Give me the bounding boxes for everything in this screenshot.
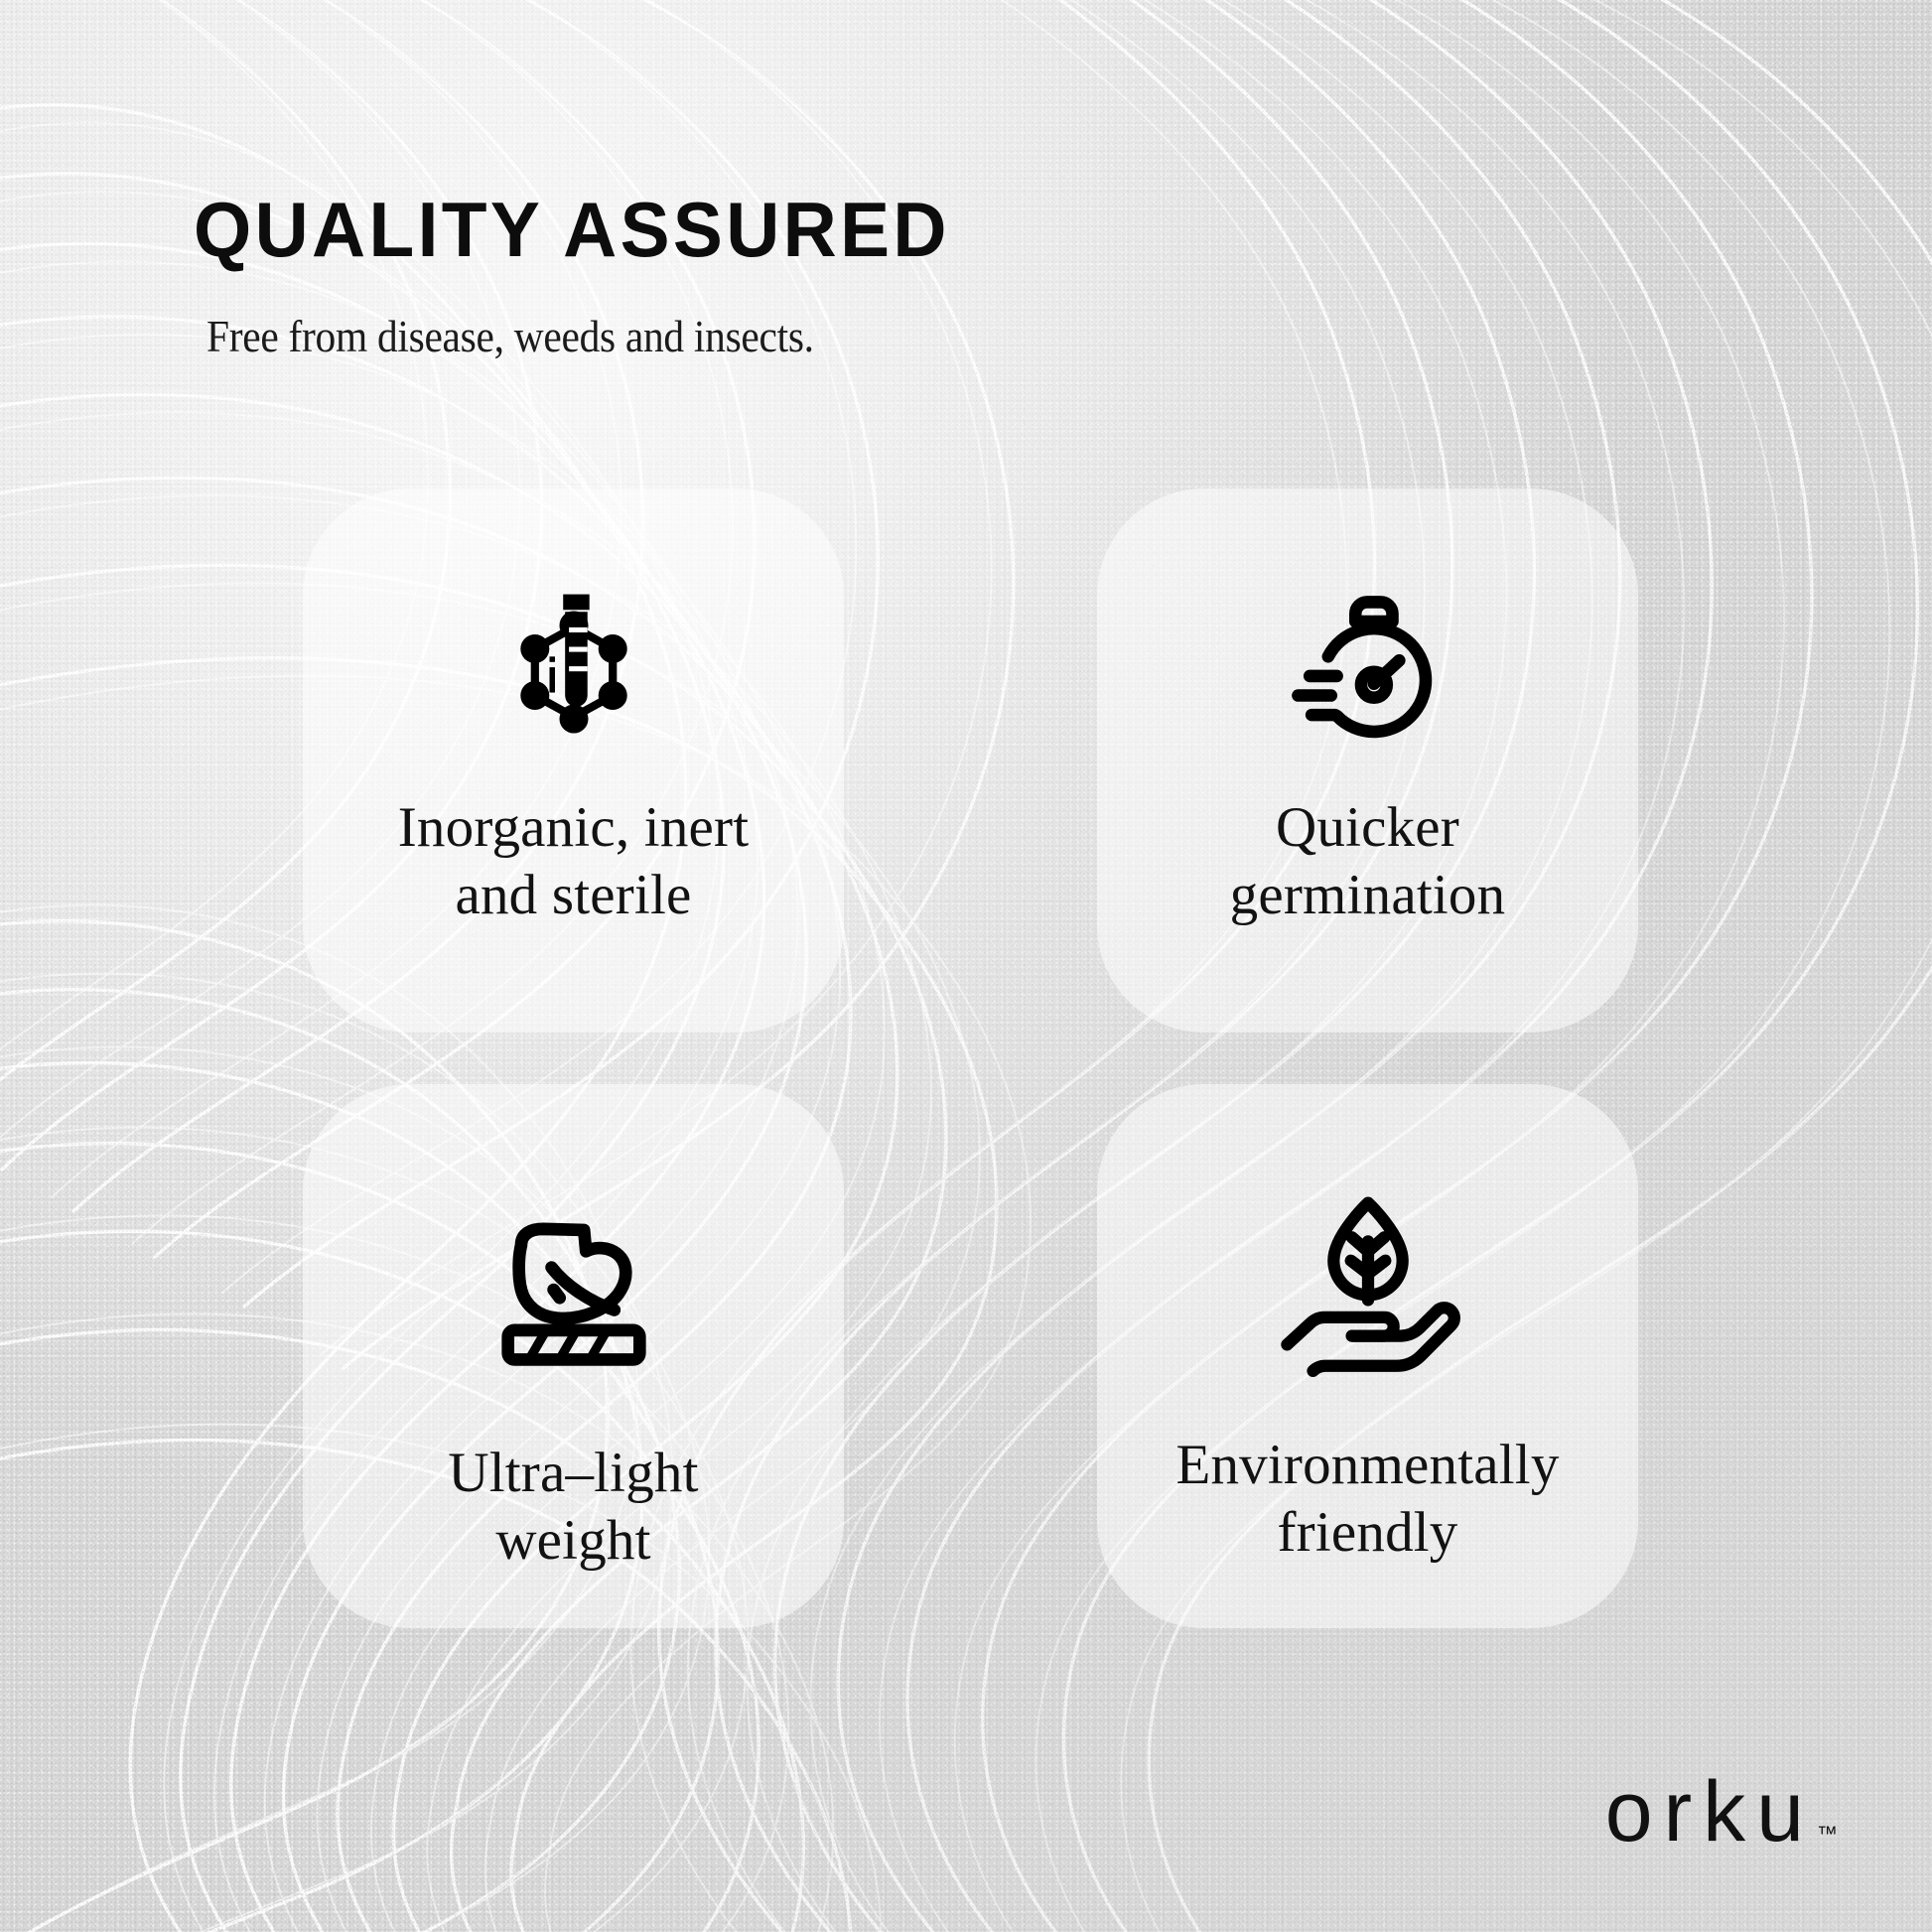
feature-card-environmentally-friendly[interactable]: Environmentally friendly <box>1097 1084 1638 1628</box>
feature-grid: Inorganic, inert and sterile <box>303 488 1638 1628</box>
caption-line-2: and sterile <box>455 864 691 926</box>
poster-canvas: QUALITY ASSURED Free from disease, weeds… <box>0 0 1932 1932</box>
fast-stopwatch-icon <box>1264 568 1472 776</box>
trademark-symbol: ™ <box>1817 1823 1838 1847</box>
caption-line-1: Quicker <box>1276 796 1459 859</box>
feature-caption: Environmentally friendly <box>1156 1432 1579 1567</box>
feather-on-block-icon <box>470 1181 678 1390</box>
caption-line-2: weight <box>495 1509 650 1572</box>
page-subtitle: Free from disease, weeds and insects. <box>207 311 814 362</box>
feature-caption: Ultra–light weight <box>428 1440 718 1575</box>
page-title: QUALITY ASSURED <box>194 185 950 275</box>
brand-logo: orku ™ <box>1605 1769 1838 1855</box>
caption-line-1: Environmentally <box>1175 1434 1559 1496</box>
caption-line-1: Inorganic, inert <box>398 796 750 859</box>
brand-wordmark: orku <box>1605 1769 1815 1855</box>
leaf-in-hand-icon <box>1264 1172 1472 1380</box>
caption-line-2: friendly <box>1277 1501 1457 1564</box>
feature-caption: Quicker germination <box>1210 794 1526 929</box>
feature-card-quicker-germination[interactable]: Quicker germination <box>1097 488 1638 1033</box>
feature-caption: Inorganic, inert and sterile <box>378 794 769 929</box>
caption-line-1: Ultra–light <box>448 1442 698 1504</box>
poster-content: QUALITY ASSURED Free from disease, weeds… <box>0 0 1932 1932</box>
caption-line-2: germination <box>1230 864 1506 926</box>
molecule-test-tube-icon <box>470 568 678 776</box>
feature-card-inorganic-inert-sterile[interactable]: Inorganic, inert and sterile <box>303 488 844 1033</box>
feature-card-ultra-light-weight[interactable]: Ultra–light weight <box>303 1084 844 1628</box>
